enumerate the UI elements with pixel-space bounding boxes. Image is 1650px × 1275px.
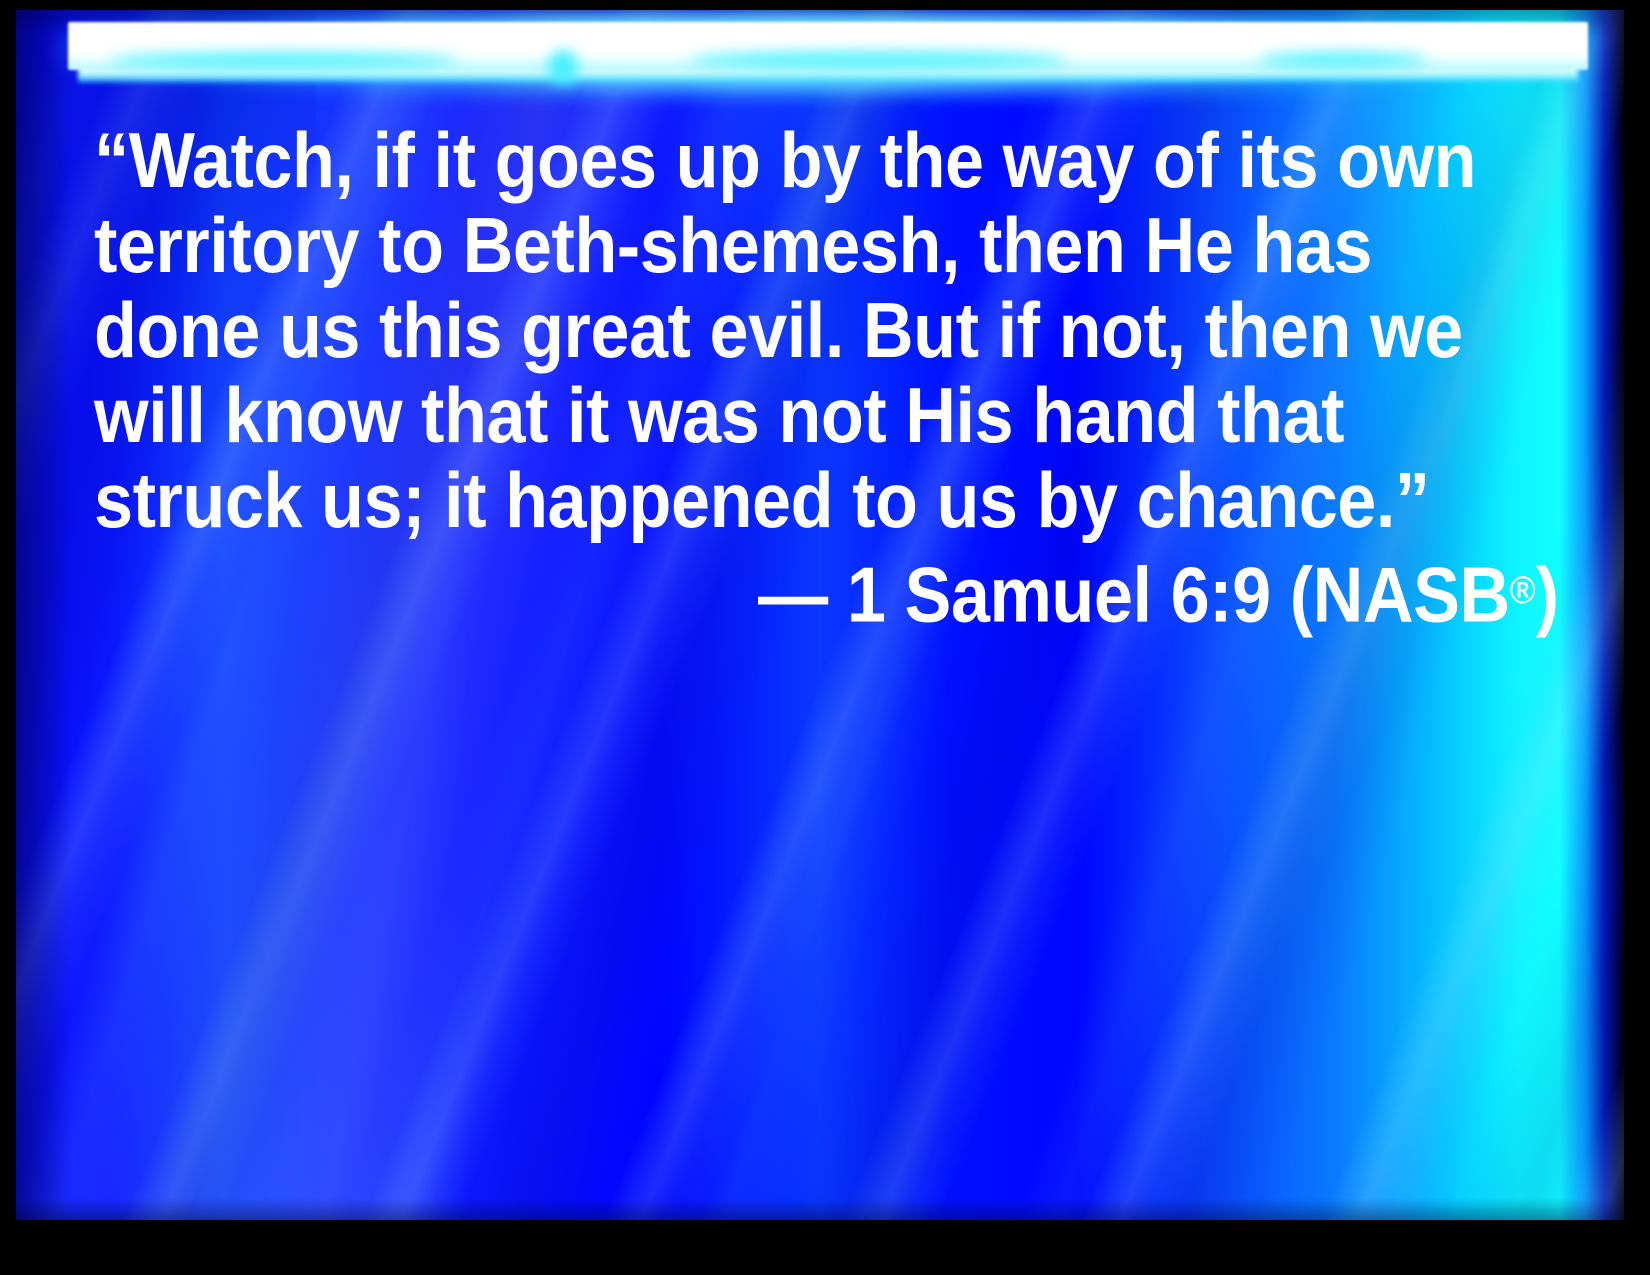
citation-version-close: ) [1536,551,1559,639]
citation-reference: 6:9 [1171,551,1271,639]
citation-version-open: (NASB [1290,551,1510,639]
citation-em-dash: — [758,551,828,639]
verse-line-4: will know that it was not His hand that [94,373,1417,458]
verse-citation: — 1 Samuel 6:9 (NASB®) [241,543,1564,643]
verse-line-2: territory to Beth-shemesh, then He has [94,203,1417,288]
registered-trademark-icon: ® [1510,569,1536,612]
scripture-slide: “Watch, if it goes up by the way of its … [0,0,1650,1275]
verse-line-1: “Watch, if it goes up by the way of its … [94,118,1417,203]
slide-canvas: “Watch, if it goes up by the way of its … [16,10,1624,1220]
citation-book: 1 Samuel [847,551,1152,639]
verse-text-block: “Watch, if it goes up by the way of its … [94,118,1564,643]
verse-line-5: struck us; it happened to us by chance.” [94,458,1417,543]
verse-line-3: done us this great evil. But if not, the… [94,288,1417,373]
